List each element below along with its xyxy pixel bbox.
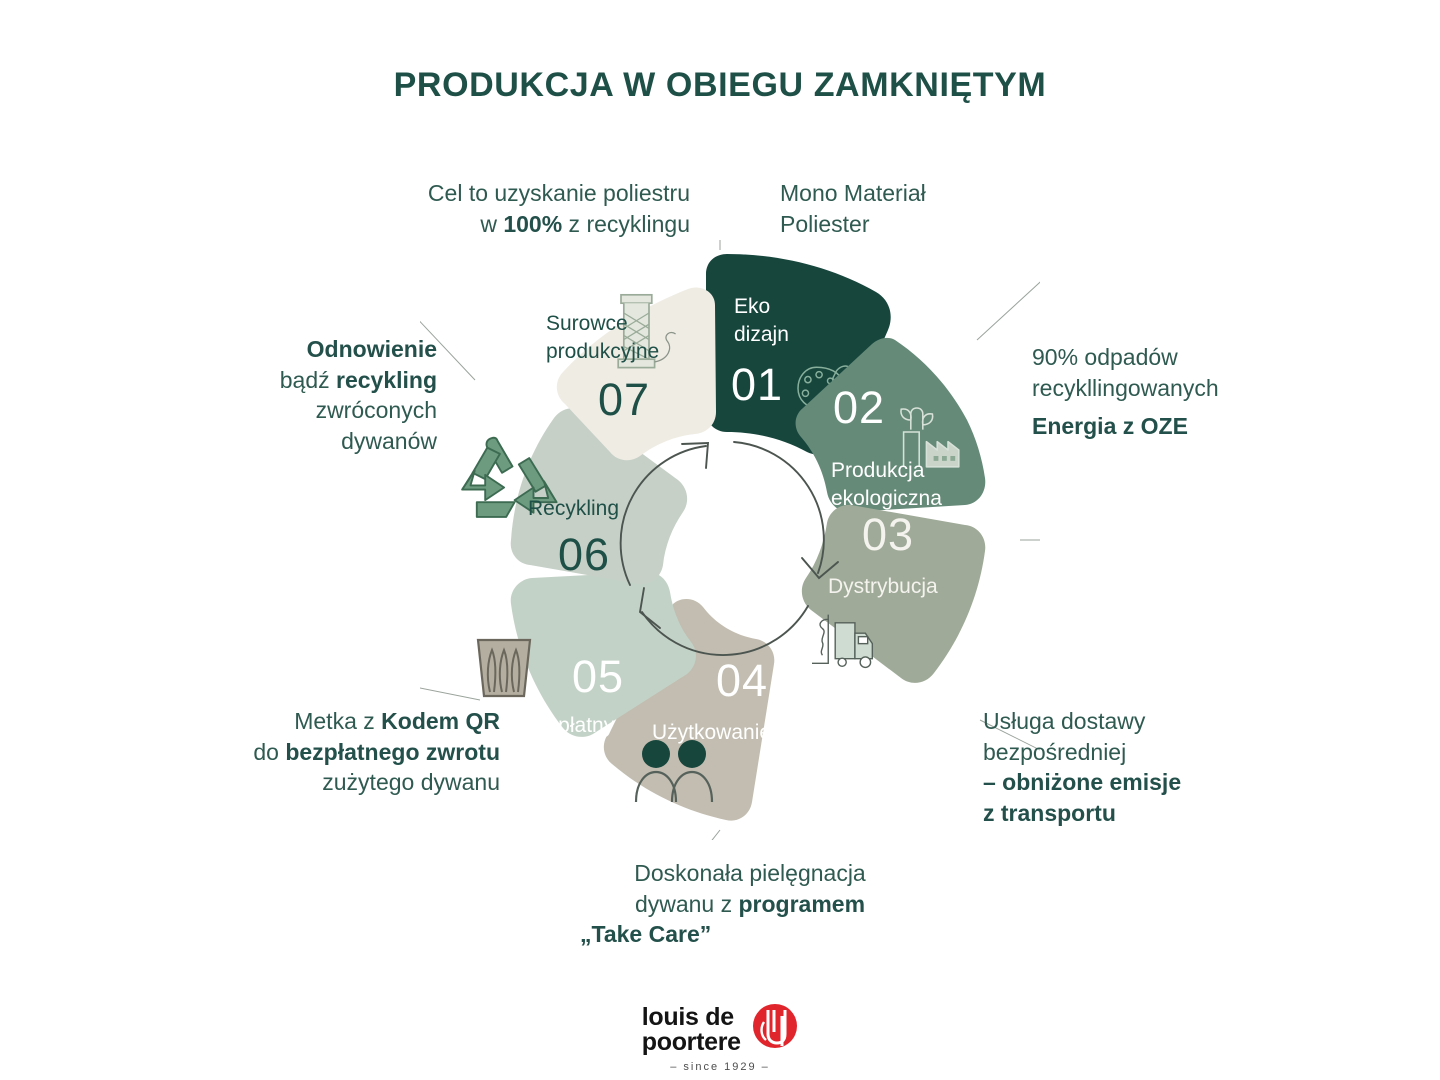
segment-06-number: 06 <box>558 529 610 580</box>
callout-02-line1: 90% odpadów <box>1032 342 1332 373</box>
callout-02-line3: Energia z OZE <box>1032 411 1332 442</box>
segment-04-label-line1: Użytkowanie <box>652 721 771 744</box>
callout-07-line1: Cel to uzyskanie poliestru <box>300 178 690 209</box>
callout-01: Mono Materiał Poliester <box>780 178 1110 239</box>
segment-01-number: 01 <box>731 359 783 410</box>
callout-05-line1: Metka z Kodem QR <box>190 706 500 737</box>
segment-02-number: 02 <box>833 382 885 433</box>
segment-01-label-line1: Eko <box>734 295 770 318</box>
cycle-wheel-svg: Eko dizajn 01 02 Produkcja ekologiczna <box>420 240 1040 840</box>
basket-icon <box>478 640 530 696</box>
callout-06-line4: dywanów <box>205 426 437 457</box>
segment-07-label-line2: produkcyjne <box>546 340 659 363</box>
callout-02: 90% odpadów recykllingowanych Energia z … <box>1032 342 1332 442</box>
callout-03-line3: – obniżone emisje <box>983 767 1303 798</box>
page-title: PRODUKCJA W OBIEGU ZAMKNIĘTYM <box>0 66 1440 105</box>
callout-03: Usługa dostawy bezpośredniej – obniżone … <box>983 706 1303 828</box>
callout-04-line3: „Take Care” <box>580 919 920 950</box>
segment-01-label-line2: dizajn <box>734 323 789 346</box>
segment-04-number: 04 <box>716 655 768 706</box>
callout-03-line2: bezpośredniej <box>983 737 1303 768</box>
logo-line1: louis de <box>642 1003 734 1031</box>
segment-03-number: 03 <box>862 509 914 560</box>
callout-01-line1: Mono Materiał <box>780 178 1110 209</box>
segment-06-label-line1: Recykling <box>528 497 619 520</box>
callout-05-line3: zużytego dywanu <box>190 767 500 798</box>
cycle-wheel: Eko dizajn 01 02 Produkcja ekologiczna <box>420 240 1040 840</box>
callout-03-line4: z transportu <box>983 798 1303 829</box>
segment-03-label-line1: Dystrybucja <box>828 575 938 598</box>
callout-04: Doskonała pielęgnacja dywanu z programem… <box>580 858 920 950</box>
callout-05-line2: do bezpłatnego zwrotu <box>190 737 500 768</box>
brand-logo: louis de poortere – since 1929 – <box>0 1002 1440 1075</box>
segment-03[interactable]: 03 Dystrybucja <box>802 505 985 683</box>
callout-05: Metka z Kodem QR do bezpłatnego zwrotu z… <box>190 706 500 798</box>
segment-05-label-line1: Bezpłatny <box>522 714 615 737</box>
logo-since-text: – since 1929 – <box>642 1061 798 1073</box>
logo-line2: poortere <box>642 1028 741 1056</box>
callout-06-line3: zwróconych <box>205 395 437 426</box>
callout-06-line2: bądź recykling <box>205 365 437 396</box>
callout-03-line1: Usługa dostawy <box>983 706 1303 737</box>
segment-07-number: 07 <box>598 374 650 425</box>
callout-04-line1: Doskonała pielęgnacja <box>580 858 920 889</box>
callout-02-line2: recykllingowanych <box>1032 373 1332 404</box>
ldp-monogram-icon <box>752 1002 798 1057</box>
segment-05-number: 05 <box>572 651 624 702</box>
segment-07-label-line1: Surowce <box>546 312 628 335</box>
callout-04-line2: dywanu z programem <box>580 889 920 920</box>
logo-wordmark: louis de poortere <box>642 1005 741 1055</box>
segment-02-label-line1: Produkcja <box>831 459 925 482</box>
callout-07: Cel to uzyskanie poliestru w 100% z recy… <box>300 178 690 239</box>
callout-06-line1: Odnowienie <box>205 334 437 365</box>
callout-01-line2: Poliester <box>780 209 1110 240</box>
callout-07-line2: w 100% z recyklingu <box>300 209 690 240</box>
callout-06: Odnowienie bądź recykling zwróconych dyw… <box>205 334 437 456</box>
segment-05-label-line2: Zwrot <box>522 742 575 765</box>
